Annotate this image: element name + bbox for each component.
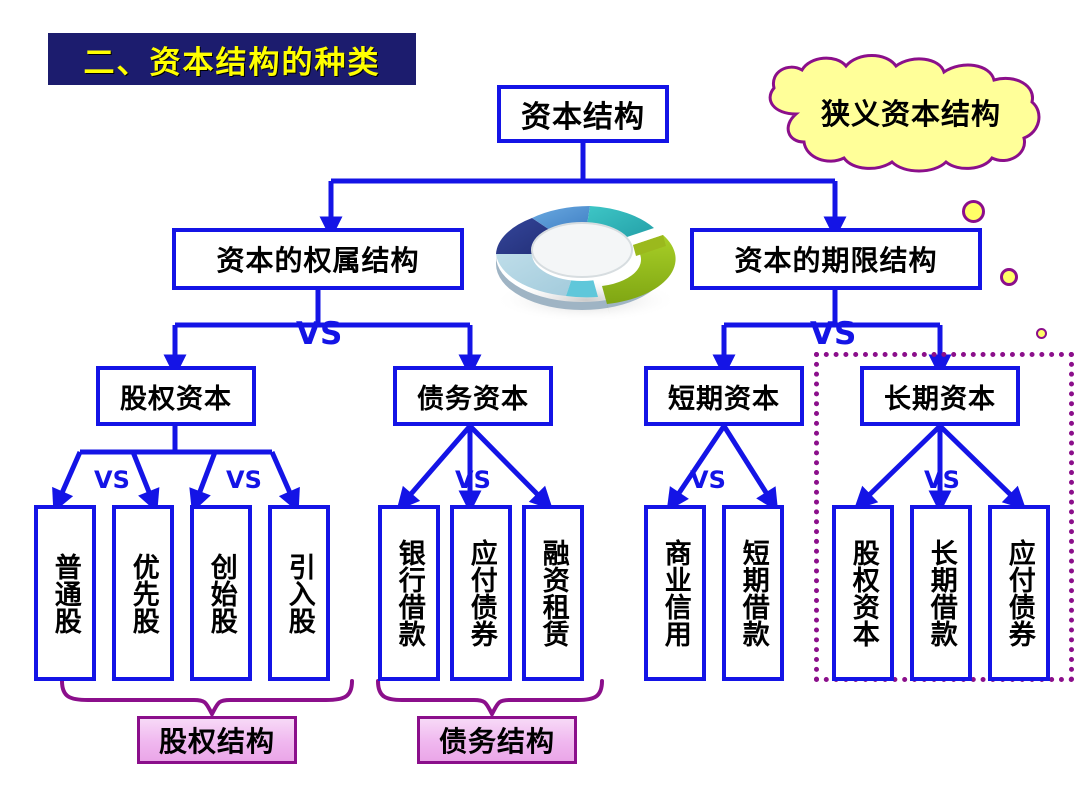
node-maturity-structure-label: 资本的期限结构 xyxy=(734,239,937,279)
leaf-common-stock-label: 普通股 xyxy=(51,553,79,634)
node-debt-capital[interactable]: 债务资本 xyxy=(393,366,553,426)
leaf-equity-capital-label: 股权资本 xyxy=(849,539,877,647)
thought-bubble-large xyxy=(962,200,985,223)
leaf-common-stock[interactable]: 普通股 xyxy=(34,505,96,681)
node-short-term-capital-label: 短期资本 xyxy=(668,377,780,416)
summary-debt-structure[interactable]: 债务结构 xyxy=(417,716,577,764)
leaf-preferred-stock-label: 优先股 xyxy=(129,553,157,634)
node-ownership-structure-label: 资本的权属结构 xyxy=(216,239,419,279)
leaf-bank-loan[interactable]: 银行借款 xyxy=(378,505,440,681)
leaf-bank-loan-label: 银行借款 xyxy=(395,539,423,647)
summary-debt-structure-label: 债务结构 xyxy=(439,720,555,760)
node-maturity-structure[interactable]: 资本的期限结构 xyxy=(690,228,982,290)
thought-bubble-medium xyxy=(1000,268,1018,286)
node-debt-capital-label: 债务资本 xyxy=(417,377,529,416)
leaf-equity-capital[interactable]: 股权资本 xyxy=(832,505,894,681)
leaf-long-bonds-payable-label: 应付债券 xyxy=(1005,539,1033,647)
leaf-founder-stock-label: 创始股 xyxy=(207,553,235,634)
leaf-short-term-loan-label: 短期借款 xyxy=(739,539,767,647)
leaf-founder-stock[interactable]: 创始股 xyxy=(190,505,252,681)
leaf-long-bonds-payable[interactable]: 应付债券 xyxy=(988,505,1050,681)
cloud-callout-label: 狭义资本结构 xyxy=(740,58,1076,166)
leaf-bonds-payable-label: 应付债券 xyxy=(467,539,495,647)
leaf-preferred-stock[interactable]: 优先股 xyxy=(112,505,174,681)
leaf-trade-credit[interactable]: 商业信用 xyxy=(644,505,706,681)
thought-bubble-small xyxy=(1036,328,1047,339)
node-short-term-capital[interactable]: 短期资本 xyxy=(644,366,804,426)
node-root[interactable]: 资本结构 xyxy=(497,85,669,143)
vs-label-equity-left: VS xyxy=(94,466,130,494)
node-equity-capital-label: 股权资本 xyxy=(120,377,232,416)
vs-label-short-term: VS xyxy=(690,466,726,494)
page-title: 二、资本结构的种类 xyxy=(48,33,416,85)
node-root-label: 资本结构 xyxy=(521,92,645,136)
leaf-introduced-stock[interactable]: 引入股 xyxy=(268,505,330,681)
summary-equity-structure-label: 股权结构 xyxy=(159,720,275,760)
vs-label-long-term: VS xyxy=(924,466,960,494)
node-equity-capital[interactable]: 股权资本 xyxy=(96,366,256,426)
leaf-bonds-payable[interactable]: 应付债券 xyxy=(450,505,512,681)
vs-label-equity-right: VS xyxy=(226,466,262,494)
cloud-callout: 狭义资本结构 xyxy=(740,58,1076,166)
leaf-long-term-loan-label: 长期借款 xyxy=(927,539,955,647)
leaf-long-term-loan[interactable]: 长期借款 xyxy=(910,505,972,681)
leaf-short-term-loan[interactable]: 短期借款 xyxy=(722,505,784,681)
node-long-term-capital[interactable]: 长期资本 xyxy=(860,366,1020,426)
page-title-text: 二、资本结构的种类 xyxy=(84,37,381,82)
leaf-finance-lease-label: 融资租赁 xyxy=(539,539,567,647)
vs-label-debt: VS xyxy=(455,466,491,494)
slide-canvas: 二、资本结构的种类 狭义资本结构 资本结构 资本的权属结构 资本的期限结构 股权… xyxy=(0,0,1087,803)
node-long-term-capital-label: 长期资本 xyxy=(884,377,996,416)
leaf-finance-lease[interactable]: 融资租赁 xyxy=(522,505,584,681)
summary-equity-structure[interactable]: 股权结构 xyxy=(137,716,297,764)
leaf-introduced-stock-label: 引入股 xyxy=(285,553,313,634)
node-ownership-structure[interactable]: 资本的权属结构 xyxy=(172,228,464,290)
vs-label-ownership: VS xyxy=(296,316,342,352)
vs-label-maturity: VS xyxy=(810,316,856,352)
leaf-trade-credit-label: 商业信用 xyxy=(661,539,689,647)
